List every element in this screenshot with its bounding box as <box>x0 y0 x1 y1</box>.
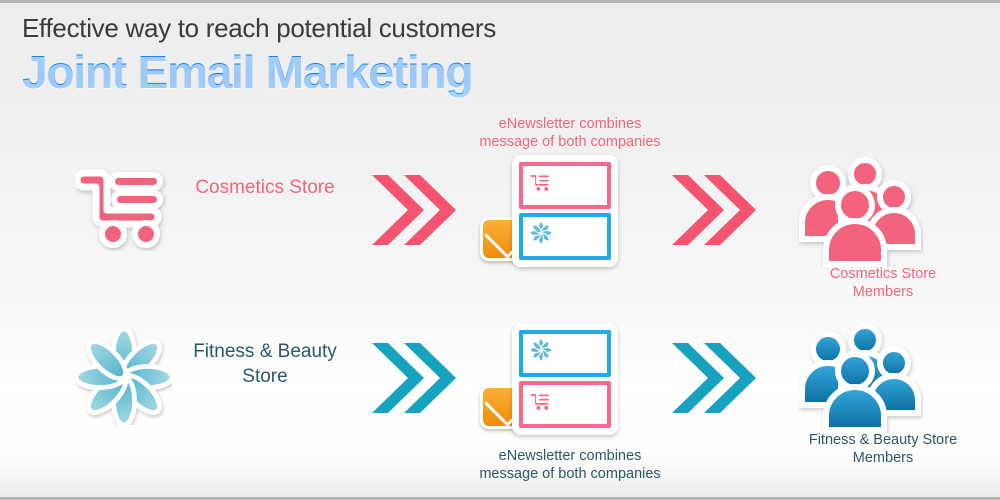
header: Effective way to reach potential custome… <box>22 11 496 99</box>
members-fitness[interactable]: Fitness & Beauty Store Members <box>790 323 980 493</box>
members-label-line1: Fitness & Beauty Store <box>809 432 957 448</box>
double-chevron-right-icon <box>368 167 458 253</box>
newsletter-panel-fitness <box>519 330 611 377</box>
shopping-cart-icon <box>76 159 172 251</box>
newsletter-panel-cosmetics <box>519 381 611 428</box>
members-cosmetics[interactable]: Cosmetics Store Members <box>790 157 980 327</box>
newsletter-caption: eNewsletter combines message of both com… <box>470 447 670 483</box>
double-chevron-right-icon <box>368 335 458 421</box>
newsletter-card <box>512 323 618 435</box>
infographic-slide: Effective way to reach potential custome… <box>0 0 1000 500</box>
newsletter-caption-line2: message of both companies <box>479 134 660 150</box>
members-label-line1: Cosmetics Store <box>830 266 936 282</box>
members-label-line2: Members <box>853 284 913 300</box>
store-label-cosmetics: Cosmetics Store <box>180 175 350 200</box>
user-group-icon <box>798 323 924 433</box>
newsletter-caption-line2: message of both companies <box>479 466 660 482</box>
newsletter-fitness[interactable]: eNewsletter combines message of both com… <box>470 323 670 493</box>
row-cosmetics: Cosmetics Store eNewsletter combines mes… <box>0 153 1000 323</box>
members-label-fitness: Fitness & Beauty Store Members <box>768 431 998 467</box>
newsletter-caption-line1: eNewsletter combines <box>499 448 642 464</box>
store-cosmetics[interactable]: Cosmetics Store <box>0 153 360 263</box>
user-group-icon <box>798 157 924 267</box>
newsletter-cosmetics[interactable]: eNewsletter combines message of both com… <box>470 115 670 275</box>
members-label-cosmetics: Cosmetics Store Members <box>768 265 998 301</box>
page-title: Joint Email Marketing <box>22 45 496 99</box>
newsletter-caption-line1: eNewsletter combines <box>499 116 642 132</box>
newsletter-panel-fitness <box>519 213 611 260</box>
newsletter-card <box>512 155 618 267</box>
newsletter-panel-cosmetics <box>519 162 611 209</box>
page-subtitle: Effective way to reach potential custome… <box>22 11 496 45</box>
row-fitness: Fitness & Beauty Store <box>0 323 1000 493</box>
store-fitness[interactable]: Fitness & Beauty Store <box>0 323 360 433</box>
double-chevron-right-icon <box>668 335 758 421</box>
store-label-line2: Store <box>242 366 287 387</box>
newsletter-caption: eNewsletter combines message of both com… <box>470 115 670 151</box>
double-chevron-right-icon <box>668 167 758 253</box>
store-label-fitness: Fitness & Beauty Store <box>180 339 350 389</box>
store-label-line1: Fitness & Beauty <box>193 341 337 362</box>
flower-icon <box>76 329 172 421</box>
members-label-line2: Members <box>853 450 913 466</box>
